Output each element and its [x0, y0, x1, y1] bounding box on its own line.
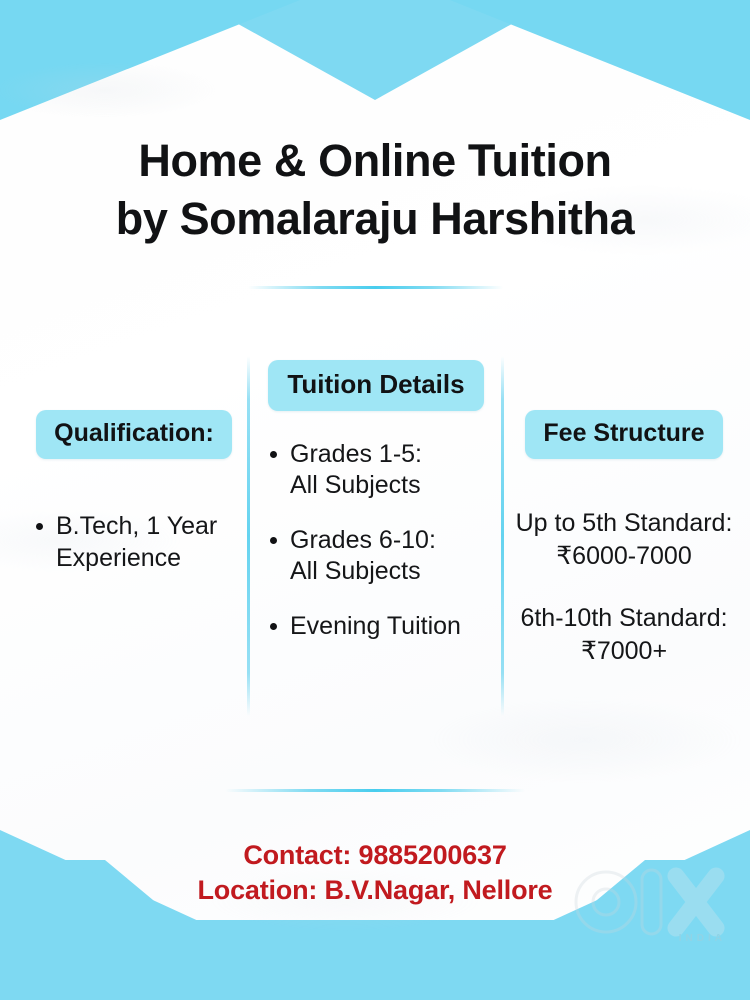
tuition-item-main: Evening Tuition — [290, 612, 461, 640]
list-item: Grades 6-10: All Subjects — [270, 525, 500, 587]
tuition-details-badge: Tuition Details — [268, 360, 483, 411]
column-fee-structure: Fee Structure Up to 5th Standard: ₹6000-… — [504, 410, 744, 667]
poster-content: Home & Online Tuition by Somalaraju Hars… — [0, 0, 750, 1000]
list-item: Grades 1-5: All Subjects — [270, 439, 500, 501]
fee-row-label: 6th-10th Standard: — [504, 602, 744, 635]
fee-structure-body: Up to 5th Standard: ₹6000-7000 6th-10th … — [504, 507, 744, 667]
tuition-details-body: Grades 1-5: All Subjects Grades 6-10: Al… — [252, 439, 500, 642]
contact-block: Contact: 9885200637 Location: B.V.Nagar,… — [0, 838, 750, 908]
olx-watermark-label: INDIA — [679, 933, 726, 944]
tuition-item-main: Grades 6-10: — [290, 526, 436, 554]
column-tuition-details: Tuition Details Grades 1-5: All Subjects… — [252, 360, 500, 642]
tuition-item-main: Grades 1-5: — [290, 440, 422, 468]
page-title-line-1: Home & Online Tuition — [0, 132, 750, 190]
column-qualification: Qualification: B.Tech, 1 Year Experience — [20, 410, 248, 574]
qualification-item-sub: Experience — [56, 543, 248, 575]
contact-phone: Contact: 9885200637 — [0, 838, 750, 873]
fee-row-value: ₹7000+ — [504, 635, 744, 668]
tuition-item-sub: All Subjects — [290, 556, 500, 587]
fee-row: Up to 5th Standard: ₹6000-7000 — [504, 507, 744, 572]
contact-location: Location: B.V.Nagar, Nellore — [0, 873, 750, 908]
poster-canvas: Home & Online Tuition by Somalaraju Hars… — [0, 0, 750, 1000]
tuition-details-list: Grades 1-5: All Subjects Grades 6-10: Al… — [270, 439, 500, 642]
divider-under-title — [248, 286, 503, 289]
tuition-item-sub: All Subjects — [290, 470, 500, 501]
fee-structure-badge: Fee Structure — [525, 410, 722, 459]
list-item: Evening Tuition — [270, 611, 500, 642]
list-item: B.Tech, 1 Year Experience — [36, 511, 248, 574]
fee-row-value: ₹6000-7000 — [504, 540, 744, 573]
divider-above-contact — [225, 789, 525, 792]
fee-row: 6th-10th Standard: ₹7000+ — [504, 602, 744, 667]
qualification-list: B.Tech, 1 Year Experience — [36, 511, 248, 574]
qualification-item-main: B.Tech, 1 Year — [56, 512, 217, 540]
qualification-badge: Qualification: — [36, 410, 232, 459]
page-title-line-2: by Somalaraju Harshitha — [0, 190, 750, 248]
qualification-body: B.Tech, 1 Year Experience — [20, 511, 248, 574]
page-title: Home & Online Tuition by Somalaraju Hars… — [0, 132, 750, 247]
fee-row-label: Up to 5th Standard: — [504, 507, 744, 540]
